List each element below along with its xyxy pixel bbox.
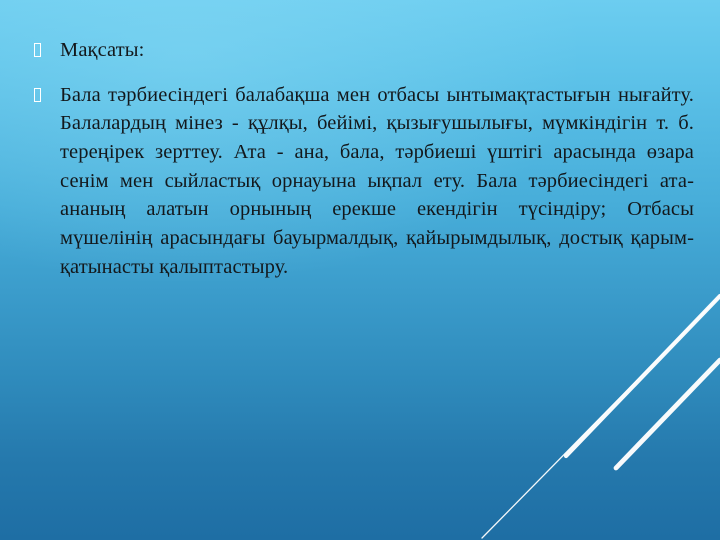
diagonal-streaks-decoration: [420, 280, 720, 540]
presentation-slide: Мақсаты: Бала тәрбиесіндегі балабақша ме…: [0, 0, 720, 540]
missing-glyph-box-icon: [34, 43, 41, 57]
bullet-text-objective-body: Бала тәрбиесіндегі балабақша мен отбасы …: [60, 81, 694, 282]
slide-body: Мақсаты: Бала тәрбиесіндегі балабақша ме…: [34, 36, 694, 282]
bullet-item-objective-body: Бала тәрбиесіндегі балабақша мен отбасы …: [34, 81, 694, 282]
bullet-item-objective-heading: Мақсаты:: [34, 36, 694, 65]
streak-line-thick: [616, 360, 720, 468]
bullet-marker-icon: [34, 36, 60, 59]
bullet-marker-icon: [34, 81, 60, 104]
bullet-text-objective-heading: Мақсаты:: [60, 36, 694, 65]
missing-glyph-box-icon: [34, 88, 41, 102]
streak-line-thin: [482, 296, 720, 538]
streak-line-medium: [566, 296, 720, 456]
